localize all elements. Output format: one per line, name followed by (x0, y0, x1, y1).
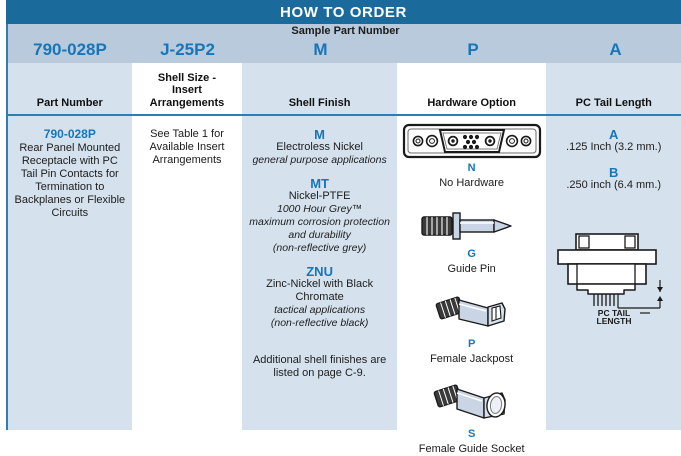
sample-part-number-values: 790-028P J-25P2 M P A (8, 38, 681, 62)
shell-finish-option-znu: ZNU Zinc-Nickel with Black Chromate tact… (248, 265, 391, 330)
cell-pc-tail-length: A .125 Inch (3.2 mm.) B .250 inch (6.4 m… (546, 116, 681, 430)
female-guide-socket-icon (397, 376, 547, 426)
connector-side-profile-icon: PC TAIL LENGTH (550, 230, 677, 326)
shell-finish-note-znu-1: tactical applications (248, 304, 391, 317)
part-number-description: Rear Panel Mounted Receptacle with PC Ta… (14, 142, 126, 220)
pc-tail-option-a: A .125 Inch (3.2 mm.) (550, 128, 677, 154)
sample-part-number-caption: Sample Part Number (8, 25, 681, 37)
column-header-shell-finish: Shell Finish (242, 63, 397, 114)
cell-shell-finish: M Electroless Nickel general purpose app… (242, 116, 397, 430)
pc-tail-code-b: B (550, 166, 677, 179)
cell-part-number: 790-028P Rear Panel Mounted Receptacle w… (8, 116, 132, 430)
sample-value-shell-finish: M (243, 38, 398, 62)
shell-finish-note-mt-2: maximum corrosion protection and durabil… (248, 216, 391, 242)
shell-finish-note-znu-2: (non-reflective black) (248, 317, 391, 330)
shell-finish-note-mt-1: 1000 Hour Grey™ (248, 203, 391, 216)
column-header-shell-size: Shell Size - Insert Arrangements (132, 63, 243, 114)
hardware-code-n: N (397, 162, 547, 175)
shell-size-note: See Table 1 for Available Insert Arrange… (138, 128, 237, 167)
shell-finish-note-mt-3: (non-reflective grey) (248, 242, 391, 255)
hardware-option-n: N No Hardware (397, 122, 547, 190)
pc-tail-value-a: .125 Inch (3.2 mm.) (550, 141, 677, 154)
hardware-label-g: Guide Pin (397, 263, 547, 276)
column-header-hardware-option: Hardware Option (397, 63, 547, 114)
column-header-part-number: Part Number (8, 63, 132, 114)
dsub-connector-front-icon (397, 122, 547, 160)
shell-finish-code-mt: MT (248, 177, 391, 190)
shell-finish-note-m-1: general purpose applications (248, 154, 391, 167)
hardware-label-s: Female Guide Socket (397, 443, 547, 456)
sample-value-pc-tail-length: A (548, 38, 681, 62)
pc-tail-value-b: .250 inch (6.4 mm.) (550, 179, 677, 192)
column-header-row: Part Number Shell Size - Insert Arrangem… (6, 63, 681, 116)
pc-tail-code-a: A (550, 128, 677, 141)
shell-finish-name-mt: Nickel-PTFE (248, 190, 391, 203)
shell-finish-footnote: Additional shell finishes are listed on … (248, 354, 391, 380)
shell-finish-option-mt: MT Nickel-PTFE 1000 Hour Grey™ maximum c… (248, 177, 391, 255)
hardware-code-p: P (397, 338, 547, 351)
hardware-option-s: S Female Guide Socket (397, 376, 547, 456)
page-title: HOW TO ORDER (6, 0, 681, 24)
table-body-row: 790-028P Rear Panel Mounted Receptacle w… (6, 116, 681, 430)
shell-finish-option-m: M Electroless Nickel general purpose app… (248, 128, 391, 167)
shell-finish-name-m: Electroless Nickel (248, 141, 391, 154)
how-to-order-table: HOW TO ORDER Sample Part Number 790-028P… (0, 0, 681, 430)
sample-value-hardware-option: P (398, 38, 548, 62)
sample-part-number-band: Sample Part Number 790-028P J-25P2 M P A (6, 24, 681, 63)
sample-value-shell-size: J-25P2 (132, 38, 243, 62)
guide-pin-icon (397, 206, 547, 246)
shell-finish-code-m: M (248, 128, 391, 141)
pc-tail-option-b: B .250 inch (6.4 mm.) (550, 166, 677, 192)
hardware-label-p: Female Jackpost (397, 353, 547, 366)
hardware-code-g: G (397, 248, 547, 261)
hardware-label-n: No Hardware (397, 177, 547, 190)
cell-shell-size: See Table 1 for Available Insert Arrange… (132, 116, 243, 430)
part-number-code: 790-028P (14, 128, 126, 141)
cell-hardware-option: N No Hardware (397, 116, 547, 430)
hardware-option-g: G Guide Pin (397, 206, 547, 276)
sample-value-part-number: 790-028P (8, 38, 132, 62)
pc-tail-callout-line2: LENGTH (596, 316, 631, 326)
shell-finish-name-znu: Zinc-Nickel with Black Chromate (248, 278, 391, 304)
shell-finish-code-znu: ZNU (248, 265, 391, 278)
hardware-option-p: P Female Jackpost (397, 288, 547, 366)
female-jackpost-icon (397, 288, 547, 336)
column-header-pc-tail-length: PC Tail Length (546, 63, 681, 114)
